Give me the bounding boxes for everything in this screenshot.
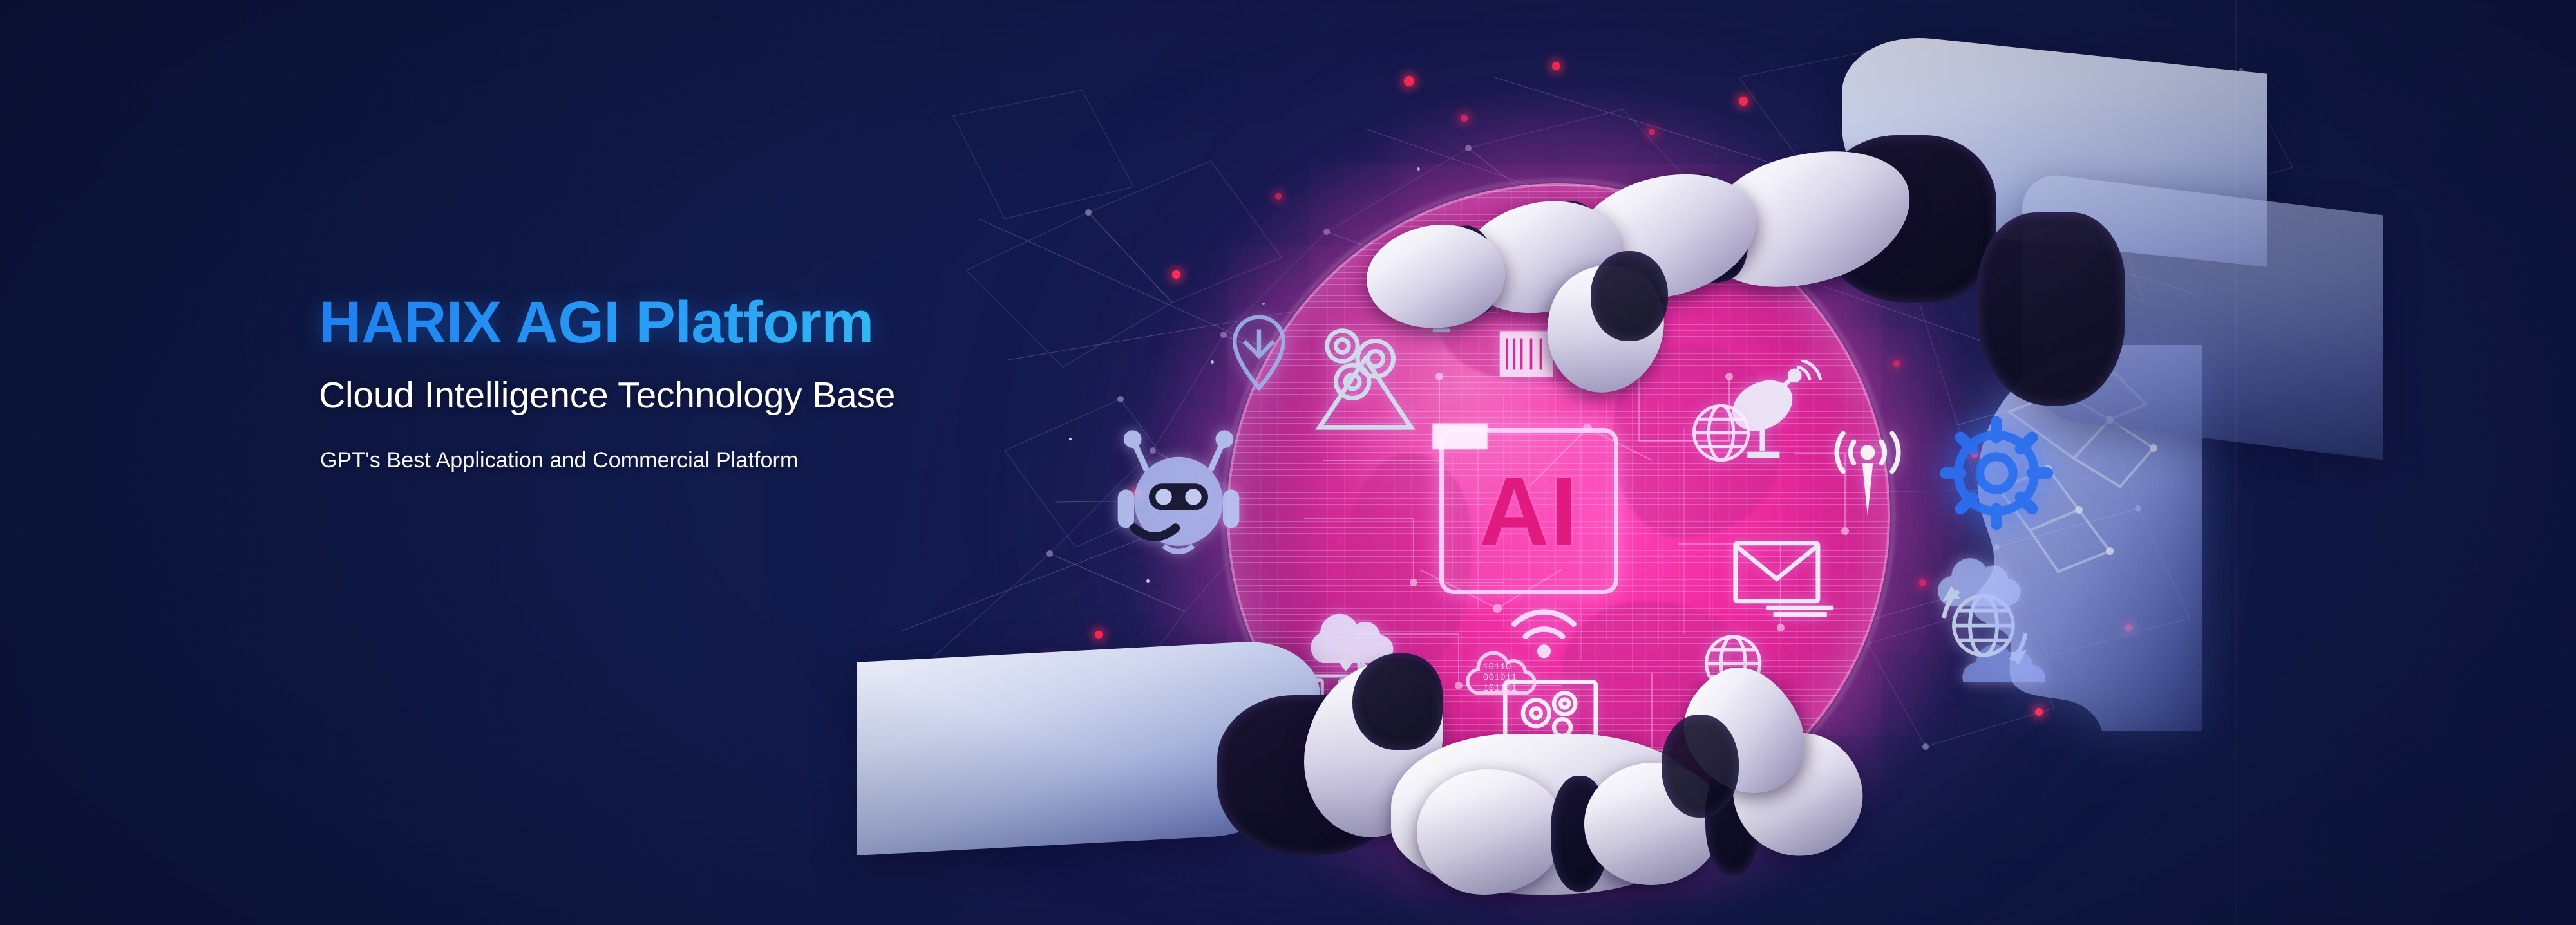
page-subtitle: Cloud Intelligence Technology Base <box>319 377 1220 415</box>
hero-copy-block: HARIX AGI Platform Cloud Intelligence Te… <box>319 293 1220 472</box>
page-tagline: GPT's Best Application and Commercial Pl… <box>320 449 1220 472</box>
hero-banner: AI <box>0 0 2576 925</box>
page-title: HARIX AGI Platform <box>319 293 1220 352</box>
background-seam <box>2235 0 2237 925</box>
